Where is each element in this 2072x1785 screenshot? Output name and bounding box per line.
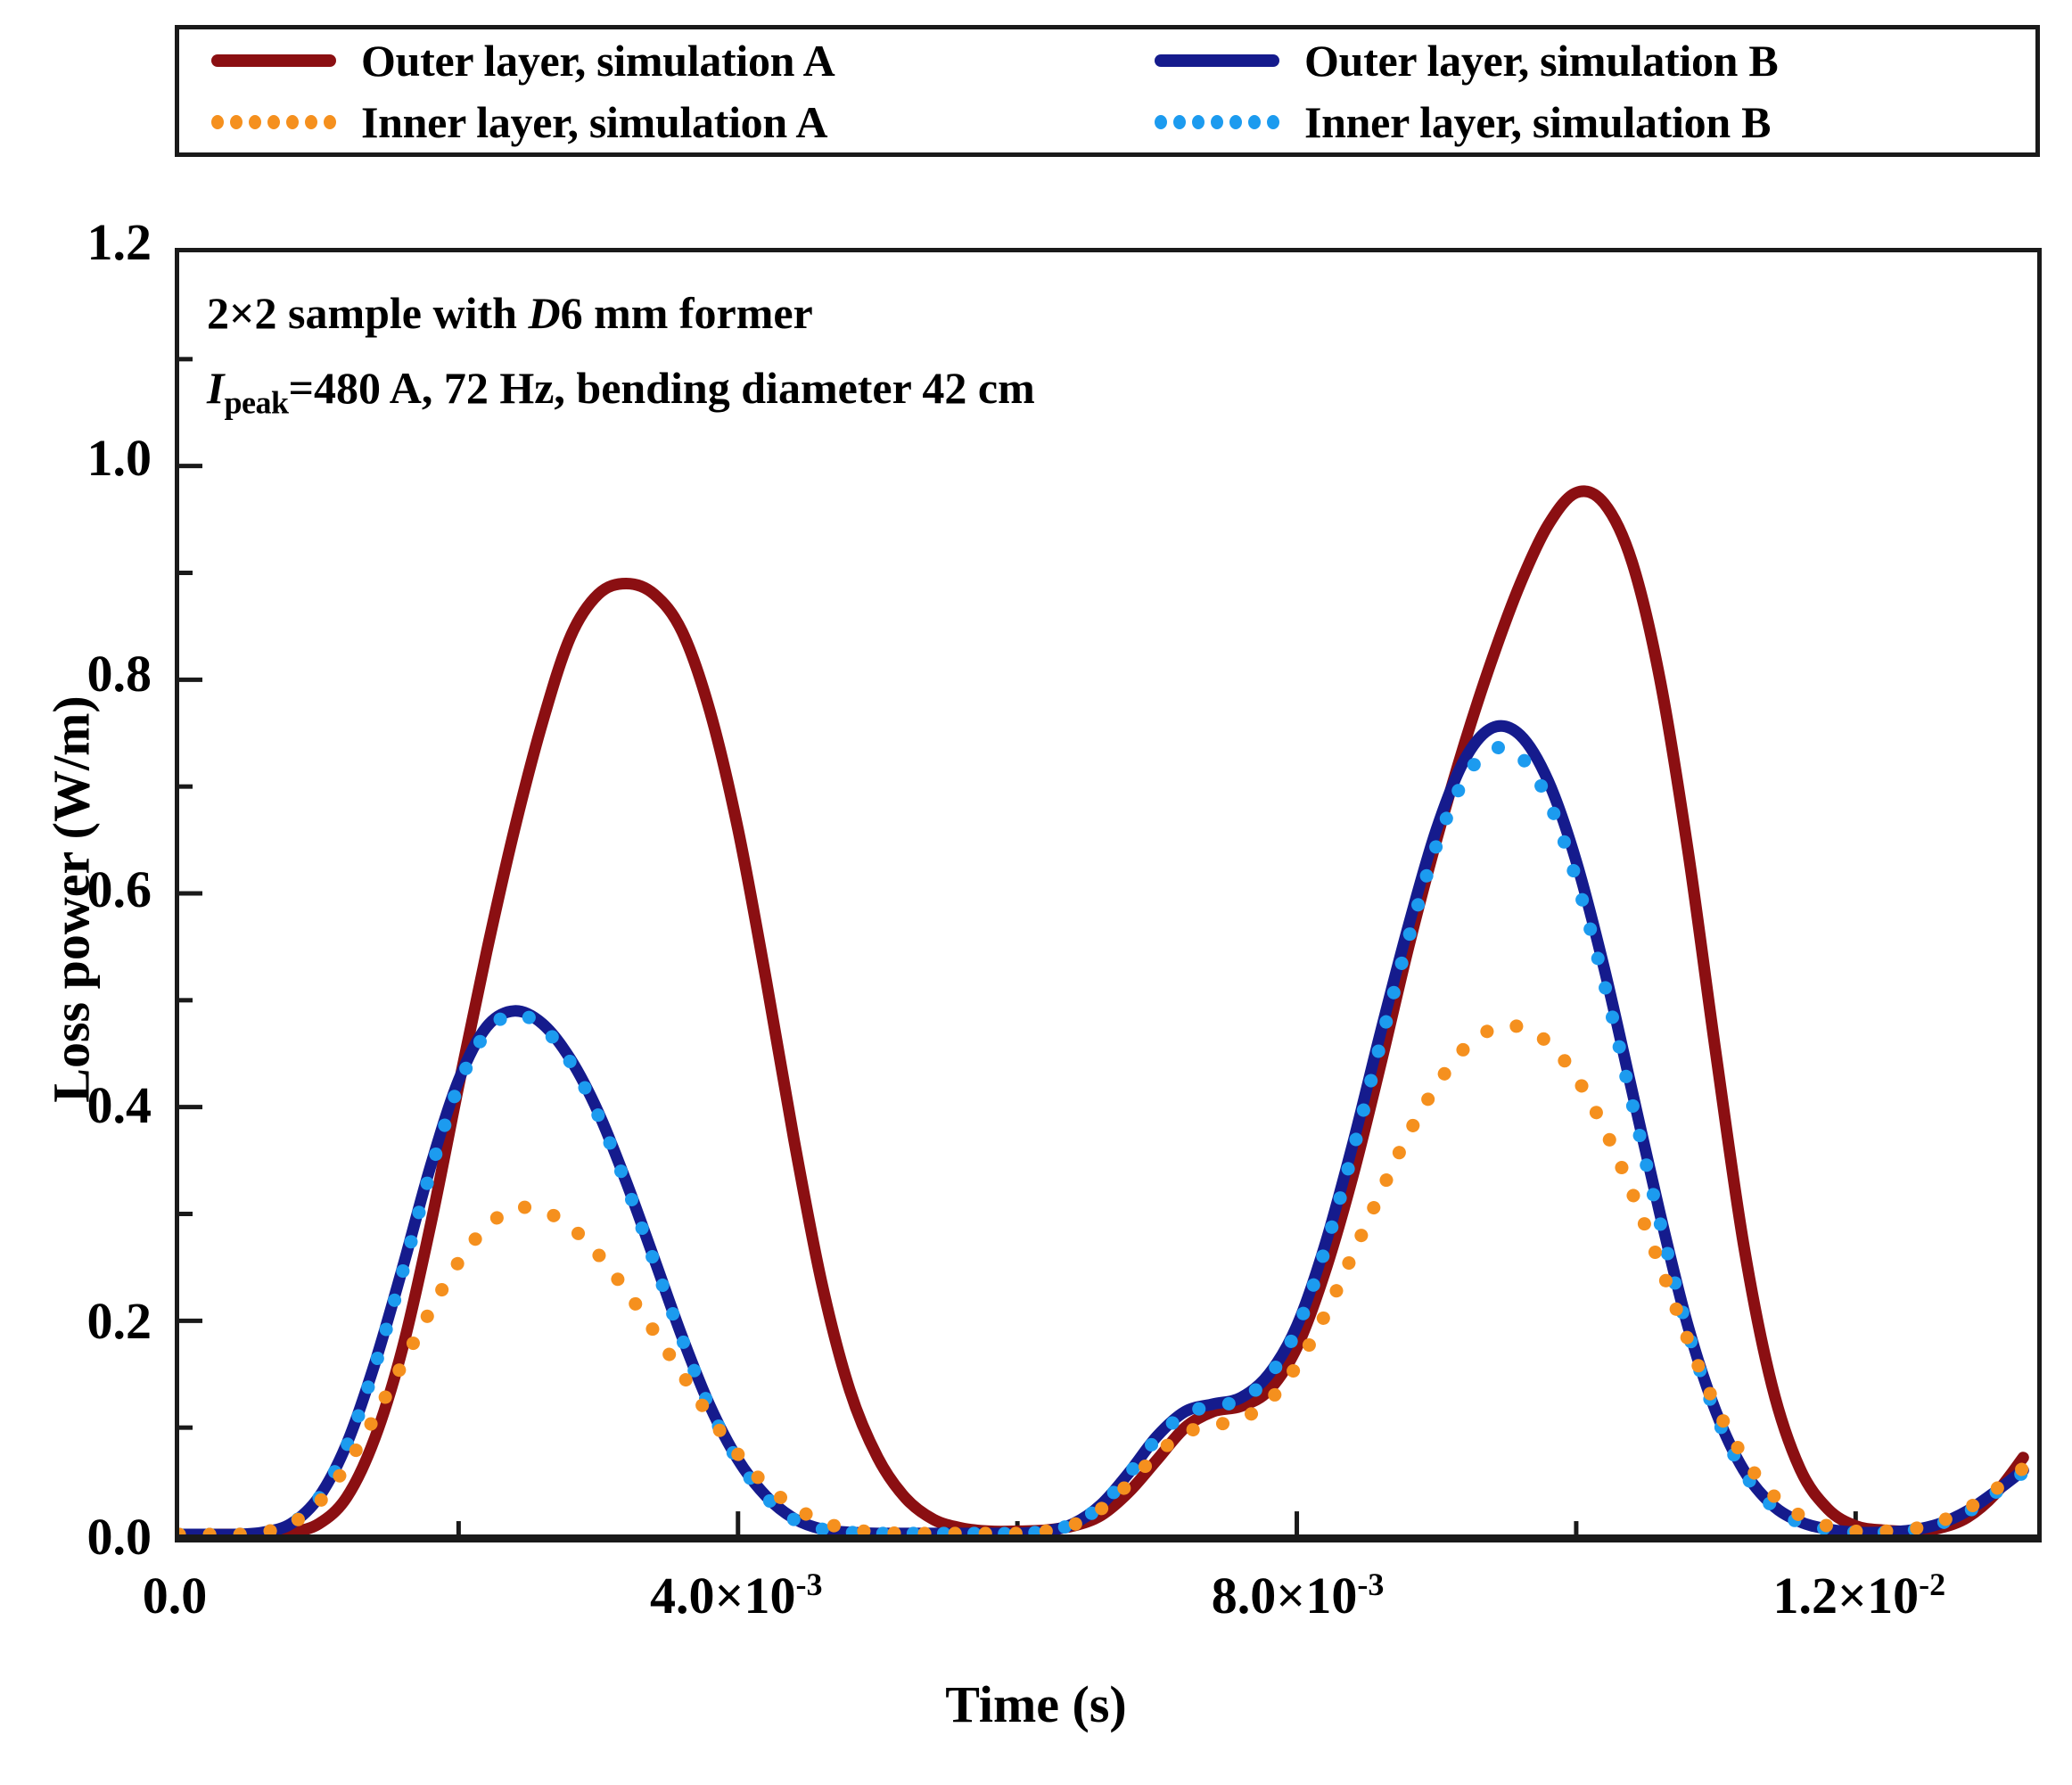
annotation-line1-italic: D [528,288,560,338]
y-tick-label-1-2: 1.2 [0,212,152,272]
legend-entry-outer-b: Outer layer, simulation B [1142,35,2034,86]
chart-legend: Outer layer, simulation A Outer layer, s… [175,25,2040,157]
annotation-line2-italic: I [207,363,224,413]
x-tick-label-0: 0.0 [0,1566,353,1625]
annotation-line2-post: =480 A, 72 Hz, bending diameter 42 cm [289,363,1035,413]
x-tick-mantissa: 8.0×10 [1212,1567,1358,1625]
x-tick-exponent: -3 [1357,1567,1384,1602]
legend-entry-inner-a: Inner layer, simulation A [179,96,1142,148]
legend-entry-inner-b: Inner layer, simulation B [1142,96,2034,148]
x-tick-label-2: 8.0×10-3 [1120,1566,1476,1625]
annotation-line2-subscript: peak [224,385,288,421]
legend-label-inner-a: Inner layer, simulation A [361,96,827,148]
annotation-line1-pre: 2×2 sample with [207,288,528,338]
legend-row-1: Outer layer, simulation A Outer layer, s… [179,29,2035,91]
x-tick-label-3: 1.2×10-2 [1681,1566,2037,1625]
x-tick-mantissa: 4.0×10 [650,1567,796,1625]
legend-entry-outer-a: Outer layer, simulation A [179,35,1142,86]
y-tick-label-1-0: 1.0 [0,428,152,488]
legend-label-outer-b: Outer layer, simulation B [1304,35,1778,86]
plot-annotation: 2×2 sample with D6 mm former Ipeak=480 A… [207,291,1277,419]
x-tick-exponent: -3 [796,1567,823,1602]
y-tick-label-0-2: 0.2 [0,1291,152,1351]
legend-row-2: Inner layer, simulation A Inner layer, s… [179,91,2035,152]
y-tick-label-0-0: 0.0 [0,1507,152,1567]
plot-canvas [179,252,2037,1534]
x-axis-title: Time (s) [0,1674,2072,1734]
x-tick-mantissa: 1.2×10 [1773,1567,1920,1625]
annotation-line-1: 2×2 sample with D6 mm former [207,291,1277,335]
annotation-line-2: Ipeak=480 A, 72 Hz, bending diameter 42 … [207,366,1277,419]
figure-root: Outer layer, simulation A Outer layer, s… [0,0,2072,1785]
x-tick-label-1: 4.0×10-3 [558,1566,915,1625]
legend-label-outer-a: Outer layer, simulation A [361,35,835,86]
legend-label-inner-b: Inner layer, simulation B [1304,96,1771,148]
x-tick-exponent: -2 [1919,1567,1945,1602]
annotation-line1-post: 6 mm former [561,288,813,338]
plot-area [175,248,2042,1542]
y-axis-title: Loss power (W/m) [42,534,102,1265]
